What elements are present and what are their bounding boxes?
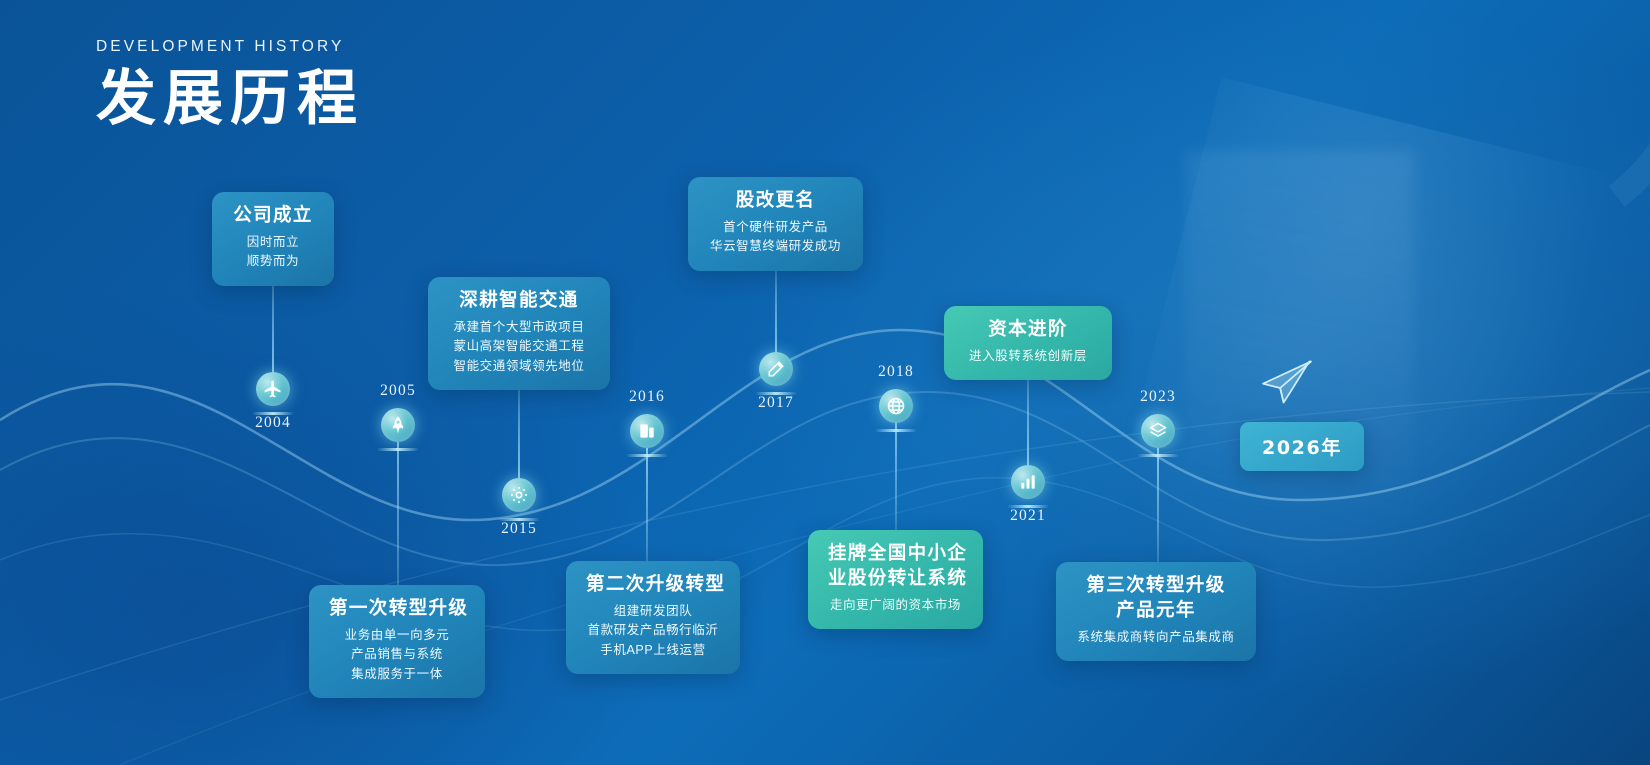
connector-2023 [1157,448,1159,562]
connector-2016 [646,448,648,568]
layers-icon [1141,414,1175,448]
milestone-subtitle-2021: 进入股转系统创新层 [964,347,1092,366]
milestone-line: 承建首个大型市政项目 [448,318,590,337]
milestone-card-2017[interactable]: 股改更名 首个硬件研发产品 华云智慧终端研发成功 [688,177,863,271]
milestone-card-2015[interactable]: 深耕智能交通 承建首个大型市政项目 蒙山高架智能交通工程 智能交通领域领先地位 [428,277,610,390]
milestone-subtitle-2023: 系统集成商转向产品集成商 [1076,628,1236,647]
timeline-node-2016[interactable]: 2016 [630,414,664,448]
year-label-2018: 2018 [878,363,914,381]
globe-icon [879,389,913,423]
milestone-line: 首个硬件研发产品 [708,218,843,237]
connector-2017 [775,262,777,358]
year-label-2023: 2023 [1140,388,1176,406]
paper-plane-icon [1258,358,1316,406]
airplane-icon [256,372,290,406]
milestone-line: 集成服务于一体 [329,665,465,684]
milestone-line: 顺势而为 [232,252,314,271]
future-badge-2026[interactable]: 2026年 [1240,422,1364,471]
year-label-2004: 2004 [255,414,291,432]
milestone-line: 走向更广阔的资本市场 [828,596,963,615]
node-base-2016 [626,454,668,457]
milestone-subtitle-2015: 承建首个大型市政项目 蒙山高架智能交通工程 智能交通领域领先地位 [448,318,590,376]
page-kicker: DEVELOPMENT HISTORY [96,38,364,56]
milestone-subtitle-2018: 走向更广阔的资本市场 [828,596,963,615]
node-base-2018 [875,429,917,432]
milestone-title-2005: 第一次转型升级 [329,597,465,622]
milestone-title-2017: 股改更名 [708,189,843,214]
milestone-line: 产品销售与系统 [329,645,465,664]
year-label-2005: 2005 [380,382,416,400]
year-label-2017: 2017 [758,394,794,412]
timeline-node-2015[interactable]: 2015 [502,478,536,512]
milestone-title-2021: 资本进阶 [964,318,1092,343]
milestone-card-2023[interactable]: 第三次转型升级 产品元年 系统集成商转向产品集成商 [1056,562,1256,661]
milestone-card-2018[interactable]: 挂牌全国中小企 业股份转让系统 走向更广阔的资本市场 [808,530,983,629]
milestone-line: 华云智慧终端研发成功 [708,237,843,256]
connector-2015 [518,378,520,482]
timeline-node-2005[interactable]: 2005 [381,408,415,442]
milestone-subtitle-2004: 因时而立 顺势而为 [232,233,314,272]
year-label-2016: 2016 [629,388,665,406]
timeline-node-2017[interactable]: 2017 [759,352,793,386]
milestone-title-2018: 挂牌全国中小企 业股份转让系统 [828,542,963,592]
milestone-line: 因时而立 [232,233,314,252]
milestone-title-line: 挂牌全国中小企 [828,543,967,564]
milestone-line: 进入股转系统创新层 [964,347,1092,366]
milestone-line: 首款研发产品畅行临沂 [586,621,720,640]
timeline-node-2023[interactable]: 2023 [1141,414,1175,448]
mobile-icon [630,414,664,448]
year-label-2021: 2021 [1010,507,1046,525]
connector-2004 [272,272,274,376]
edit-icon [759,352,793,386]
rocket-icon [381,408,415,442]
node-base-2005 [377,448,419,451]
milestone-title-2004: 公司成立 [232,204,314,229]
milestone-title-2023: 第三次转型升级 产品元年 [1076,574,1236,624]
timeline-node-2021[interactable]: 2021 [1011,465,1045,499]
milestone-card-2021[interactable]: 资本进阶 进入股转系统创新层 [944,306,1112,380]
milestone-subtitle-2017: 首个硬件研发产品 华云智慧终端研发成功 [708,218,843,257]
milestone-card-2004[interactable]: 公司成立 因时而立 顺势而为 [212,192,334,286]
milestone-line: 手机APP上线运营 [586,641,720,660]
milestone-line: 组建研发团队 [586,602,720,621]
milestone-card-2005[interactable]: 第一次转型升级 业务由单一向多元 产品销售与系统 集成服务于一体 [309,585,485,698]
milestone-card-2016[interactable]: 第二次升级转型 组建研发团队 首款研发产品畅行临沂 手机APP上线运营 [566,561,740,674]
milestone-title-2016: 第二次升级转型 [586,573,720,598]
milestone-line: 系统集成商转向产品集成商 [1076,628,1236,647]
milestone-subtitle-2016: 组建研发团队 首款研发产品畅行临沂 手机APP上线运营 [586,602,720,660]
milestone-line: 蒙山高架智能交通工程 [448,337,590,356]
page-header: DEVELOPMENT HISTORY 发展历程 [96,38,364,131]
year-label-2015: 2015 [501,520,537,538]
timeline-node-2018[interactable]: 2018 [879,389,913,423]
milestone-line: 业务由单一向多元 [329,626,465,645]
bar-chart-icon [1011,465,1045,499]
milestone-title-line: 第三次转型升级 [1086,575,1225,596]
milestone-line: 智能交通领域领先地位 [448,357,590,376]
milestone-title-line: 业股份转让系统 [828,568,967,589]
gear-icon [502,478,536,512]
page-title: 发展历程 [96,68,364,131]
milestone-subtitle-2005: 业务由单一向多元 产品销售与系统 集成服务于一体 [329,626,465,684]
milestone-title-2015: 深耕智能交通 [448,289,590,314]
milestone-title-line: 产品元年 [1116,600,1196,621]
timeline-node-2004[interactable]: 2004 [256,372,290,406]
node-base-2023 [1137,454,1179,457]
